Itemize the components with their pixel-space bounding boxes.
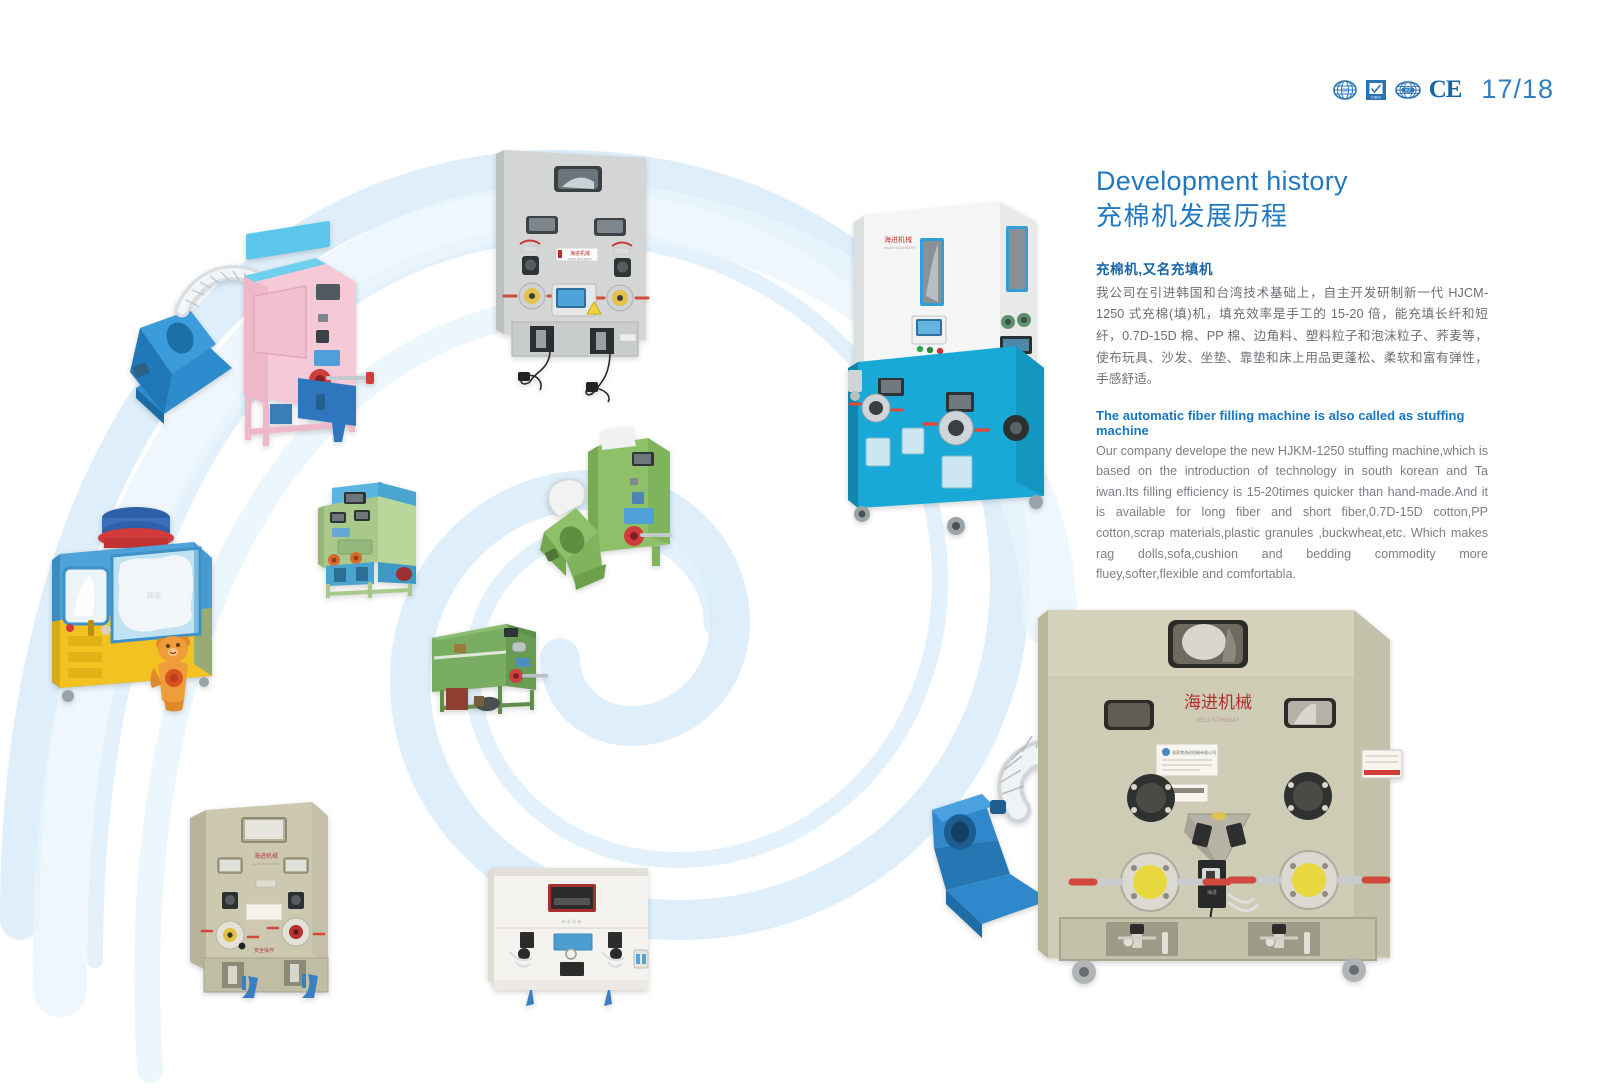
svg-text:0512-57868647: 0512-57868647: [1197, 718, 1240, 724]
svg-text:CNAS: CNAS: [1371, 95, 1381, 99]
white-twin-station-machine: 海进机械: [486, 858, 666, 1008]
page-number: 17/18: [1481, 74, 1554, 105]
teddy-bear-vending-machine: 棉花: [44, 492, 224, 712]
green-opening-machine: [422, 612, 552, 722]
subtitle-cn: 充棉机,又名充填机: [1096, 258, 1488, 278]
checkmark-cert-icon: CNAS: [1365, 78, 1387, 102]
page-title-cn: 充棉机发展历程: [1096, 200, 1488, 234]
svg-text:海进机械: 海进机械: [561, 918, 583, 924]
beige-large-machine-with-blue-blower: 海进机械 0512-57868647 张家港海进机械有限公司: [898, 598, 1408, 998]
ce-mark-label: CE: [1429, 77, 1462, 102]
svg-text:海进机械: 海进机械: [254, 852, 278, 860]
pink-stuffing-machine-with-blue-blower: [120, 218, 380, 448]
header-certification-bar: ISO CNAS IAF CE 17/18: [1333, 74, 1554, 105]
body-paragraph-cn: 我公司在引进韩国和台湾技术基础上，自主开发研制新一代 HJCM-1250 式充棉…: [1096, 283, 1488, 391]
small-green-blue-machine: [312, 480, 432, 600]
svg-text:海进: 海进: [1207, 889, 1217, 896]
subtitle-en: The automatic fiber filling machine is a…: [1096, 408, 1488, 438]
beige-twin-station-machine: 海进机械 HAIJIN MACHINERY 安全操作: [180, 780, 350, 1000]
iaf-cert-icon: IAF: [1395, 78, 1421, 102]
green-blower-machine: [520, 420, 680, 600]
svg-text:HAIJIN MACHINERY: HAIJIN MACHINERY: [252, 862, 280, 866]
svg-text:ISO: ISO: [1340, 88, 1349, 94]
svg-text:张家港海进机械有限公司: 张家港海进机械有限公司: [1172, 749, 1216, 755]
svg-text:海进机械: 海进机械: [1184, 693, 1252, 712]
svg-text:海进机械: 海进机械: [884, 235, 912, 244]
svg-text:HAIJIN MACHINERY: HAIJIN MACHINERY: [884, 246, 917, 250]
brochure-page: ISO CNAS IAF CE 17/18 Developm: [0, 0, 1600, 1092]
grey-twin-nozzle-machine: 海进机械 HAIJIN MACHINERY: [490, 144, 680, 404]
blue-white-large-hjcm-machine: 海进机械 HAIJIN MACHINERY: [840, 196, 1060, 536]
body-paragraph-en: Our company develope the new HJKM-1250 s…: [1096, 441, 1488, 585]
svg-text:安全操作: 安全操作: [254, 947, 274, 954]
iso-cert-icon: ISO: [1333, 78, 1357, 102]
svg-text:海进机械: 海进机械: [570, 250, 590, 257]
svg-text:棉花: 棉花: [147, 591, 161, 600]
page-title-en: Development history: [1096, 166, 1488, 198]
svg-text:IAF: IAF: [1404, 87, 1411, 92]
svg-text:HAIJIN MACHINERY: HAIJIN MACHINERY: [568, 257, 593, 261]
text-column: Development history 充棉机发展历程 充棉机,又名充填机 我公…: [1096, 166, 1488, 585]
